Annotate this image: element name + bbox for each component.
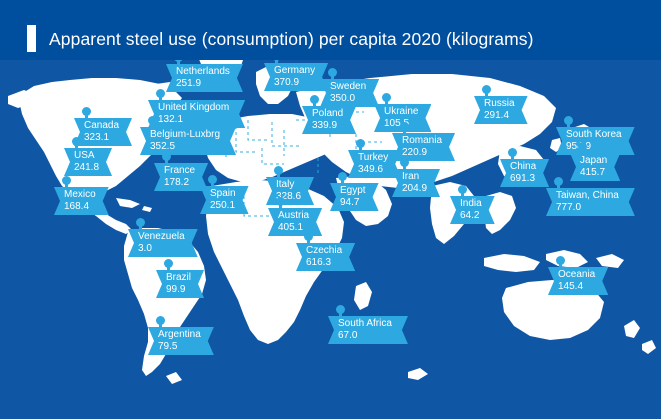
country-name: United Kingdom [158, 102, 229, 114]
country-name: Taiwan, China [556, 190, 619, 202]
country-name: Canada [84, 120, 119, 132]
map-pin-icon [72, 137, 81, 146]
map-pin-icon [564, 116, 573, 125]
ribbon-banner: Egypt94.7 [330, 183, 379, 211]
country-name: Czechia [306, 245, 342, 257]
map-pin-icon [554, 177, 563, 186]
map-pin-icon [162, 152, 171, 161]
ribbon-banner: Canada323.1 [74, 118, 132, 146]
ribbon-banner: Italy328.6 [266, 177, 314, 205]
country-name: Sweden [330, 81, 366, 93]
country-value: 954.9 [566, 141, 622, 153]
ribbon-banner: Germany370.9 [264, 63, 328, 91]
map-label-netherlands[interactable]: Netherlands251.9 [166, 64, 243, 92]
country-name: Venezuela [138, 231, 185, 243]
ribbon-banner: Sweden350.0 [320, 79, 379, 107]
country-name: Austria [278, 210, 309, 222]
title-accent-bar [27, 25, 36, 52]
map-label-usa[interactable]: USA241.8 [64, 148, 112, 176]
map-pin-icon [208, 175, 217, 184]
map-pin-icon [338, 172, 347, 181]
map-pin-icon [328, 68, 337, 77]
country-name: South Africa [338, 318, 392, 330]
map-pin-icon [304, 232, 313, 241]
country-name: China [510, 161, 536, 173]
ribbon-banner: Japan415.7 [570, 153, 620, 181]
map-pin-icon [62, 176, 71, 185]
map-pin-icon [578, 142, 587, 151]
country-name: USA [74, 150, 99, 162]
map-label-poland[interactable]: Poland339.9 [302, 106, 356, 134]
country-value: 251.9 [176, 78, 230, 90]
header-band: Apparent steel use (consumption) per cap… [0, 0, 661, 60]
country-name: France [164, 165, 195, 177]
map-label-united-kingdom[interactable]: United Kingdom132.1 [148, 100, 245, 128]
country-value: 241.8 [74, 162, 99, 174]
ribbon-banner: Czechia616.3 [296, 243, 355, 271]
ribbon-banner: Netherlands251.9 [166, 64, 243, 92]
ribbon-banner: India64.2 [450, 196, 495, 224]
map-label-egypt[interactable]: Egypt94.7 [330, 183, 379, 211]
country-value: 415.7 [580, 167, 607, 179]
country-value: 64.2 [460, 210, 482, 222]
map-label-brazil[interactable]: Brazil99.9 [156, 270, 204, 298]
map-pin-icon [136, 218, 145, 227]
infographic-map-root: Apparent steel use (consumption) per cap… [0, 0, 661, 419]
country-value: 339.9 [312, 120, 343, 132]
country-value: 220.9 [402, 147, 442, 159]
map-label-canada[interactable]: Canada323.1 [74, 118, 132, 146]
map-pin-icon [382, 93, 391, 102]
ribbon-banner: Argentina79.5 [148, 327, 214, 355]
ribbon-banner: Spain250.1 [200, 186, 249, 214]
map-label-taiwan-china[interactable]: Taiwan, China777.0 [546, 188, 635, 216]
country-name: Italy [276, 179, 301, 191]
country-name: Argentina [158, 329, 201, 341]
map-label-south-africa[interactable]: South Africa67.0 [328, 316, 408, 344]
country-name: Spain [210, 188, 236, 200]
country-name: Netherlands [176, 66, 230, 78]
map-label-japan[interactable]: Japan415.7 [570, 153, 620, 181]
map-pin-icon [156, 316, 165, 325]
map-label-iran[interactable]: Iran204.9 [392, 169, 440, 197]
country-value: 352.5 [150, 141, 220, 153]
map-label-czechia[interactable]: Czechia616.3 [296, 243, 355, 271]
map-label-argentina[interactable]: Argentina79.5 [148, 327, 214, 355]
map-pin-icon [458, 185, 467, 194]
map-pin-icon [508, 148, 517, 157]
country-name: Mexico [64, 189, 96, 201]
country-value: 94.7 [340, 197, 366, 209]
map-pin-icon [356, 139, 365, 148]
map-pin-icon [310, 95, 319, 104]
map-pin-icon [482, 85, 491, 94]
page-title: Apparent steel use (consumption) per cap… [49, 29, 534, 49]
country-name: Russia [484, 98, 515, 110]
country-value: 145.4 [558, 281, 595, 293]
map-pin-icon [556, 256, 565, 265]
country-value: 323.1 [84, 132, 119, 144]
map-label-germany[interactable]: Germany370.9 [264, 63, 328, 91]
map-label-russia[interactable]: Russia291.4 [474, 96, 528, 124]
ribbon-banner: Iran204.9 [392, 169, 440, 197]
country-value: 250.1 [210, 200, 236, 212]
ribbon-banner: USA241.8 [64, 148, 112, 176]
country-name: Egypt [340, 185, 366, 197]
country-value: 67.0 [338, 330, 392, 342]
map-label-south-korea[interactable]: South Korea954.9 [556, 127, 635, 155]
country-name: India [460, 198, 482, 210]
ribbon-banner: China691.3 [500, 159, 549, 187]
map-pin-icon [274, 166, 283, 175]
map-pin-icon [164, 259, 173, 268]
country-name: Oceania [558, 269, 595, 281]
map-label-spain[interactable]: Spain250.1 [200, 186, 249, 214]
map-label-mexico[interactable]: Mexico168.4 [54, 187, 109, 215]
title-row: Apparent steel use (consumption) per cap… [27, 25, 534, 52]
ribbon-banner: Brazil99.9 [156, 270, 204, 298]
ribbon-banner: Belgium-Luxbrg352.5 [140, 127, 236, 155]
map-pin-icon [400, 122, 409, 131]
country-value: 178.2 [164, 177, 195, 189]
map-label-sweden[interactable]: Sweden350.0 [320, 79, 379, 107]
map-pin-icon [148, 116, 157, 125]
country-value: 168.4 [64, 201, 96, 213]
map-label-austria[interactable]: Austria405.1 [268, 208, 322, 236]
map-label-oceania[interactable]: Oceania145.4 [548, 267, 608, 295]
ribbon-banner: Russia291.4 [474, 96, 528, 124]
country-value: 349.6 [358, 164, 388, 176]
ribbon-banner: Poland339.9 [302, 106, 356, 134]
country-value: 691.3 [510, 173, 536, 185]
country-value: 291.4 [484, 110, 515, 122]
map-pin-icon [400, 158, 409, 167]
country-name: Brazil [166, 272, 191, 284]
country-value: 370.9 [274, 77, 315, 89]
map-pin-icon [276, 197, 285, 206]
ribbon-banner: United Kingdom132.1 [148, 100, 245, 128]
map-label-italy[interactable]: Italy328.6 [266, 177, 314, 205]
map-label-belgium-luxbrg[interactable]: Belgium-Luxbrg352.5 [140, 127, 236, 155]
country-value: 405.1 [278, 222, 309, 234]
country-name: Romania [402, 135, 442, 147]
country-name: Belgium-Luxbrg [150, 129, 220, 141]
country-name: South Korea [566, 129, 622, 141]
ribbon-banner: South Africa67.0 [328, 316, 408, 344]
country-name: Germany [274, 65, 315, 77]
map-label-china[interactable]: China691.3 [500, 159, 549, 187]
country-name: Ukraine [384, 106, 418, 118]
ribbon-banner: Venezuela3.0 [128, 229, 198, 257]
map-label-india[interactable]: India64.2 [450, 196, 495, 224]
country-value: 79.5 [158, 341, 201, 353]
map-pin-icon [336, 305, 345, 314]
country-name: Japan [580, 155, 607, 167]
ribbon-banner: Oceania145.4 [548, 267, 608, 295]
map-label-romania[interactable]: Romania220.9 [392, 133, 455, 161]
ribbon-banner: Romania220.9 [392, 133, 455, 161]
map-label-venezuela[interactable]: Venezuela3.0 [128, 229, 198, 257]
ribbon-banner: South Korea954.9 [556, 127, 635, 155]
country-value: 616.3 [306, 257, 342, 269]
country-value: 777.0 [556, 202, 619, 214]
map-pin-icon [82, 107, 91, 116]
country-value: 350.0 [330, 93, 366, 105]
ribbon-banner: Mexico168.4 [54, 187, 109, 215]
country-value: 99.9 [166, 284, 191, 296]
ribbon-banner: Taiwan, China777.0 [546, 188, 635, 216]
country-name: Poland [312, 108, 343, 120]
country-value: 204.9 [402, 183, 427, 195]
country-name: Iran [402, 171, 427, 183]
country-value: 132.1 [158, 114, 229, 126]
country-name: Turkey [358, 152, 388, 164]
country-value: 3.0 [138, 243, 185, 255]
map-pin-icon [156, 89, 165, 98]
ribbon-banner: Austria405.1 [268, 208, 322, 236]
